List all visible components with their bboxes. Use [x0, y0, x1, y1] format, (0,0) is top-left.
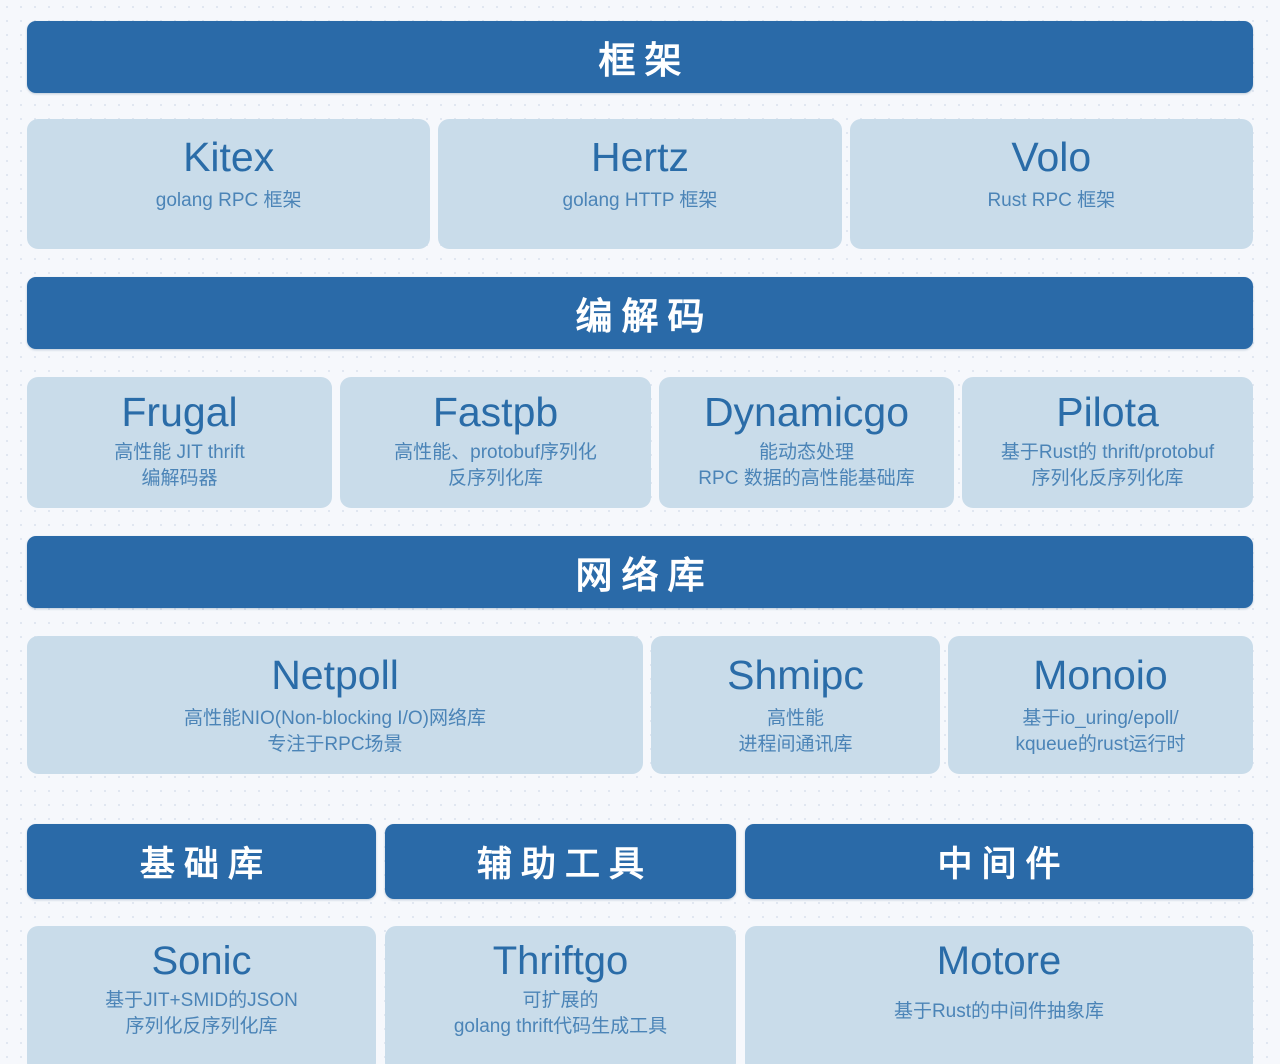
card-subtitle: golang HTTP 框架	[563, 188, 718, 214]
architecture-diagram: 框架 Kitex golang RPC 框架 Hertz golang HTTP…	[0, 21, 1280, 1064]
card-title: Netpoll	[271, 654, 399, 697]
card-row-framework: Kitex golang RPC 框架 Hertz golang HTTP 框架…	[27, 119, 1253, 249]
card-hertz[interactable]: Hertz golang HTTP 框架	[438, 119, 841, 249]
card-subtitle: 基于Rust的中间件抽象库	[894, 999, 1104, 1025]
card-title: Sonic	[151, 940, 251, 982]
card-title: Thriftgo	[493, 940, 629, 982]
card-title: Fastpb	[433, 391, 558, 434]
card-subtitle: 基于JIT+SMID的JSON 序列化反序列化库	[105, 988, 298, 1039]
card-row-codec: Frugal 高性能 JIT thrift 编解码器 Fastpb 高性能、pr…	[27, 377, 1253, 508]
card-title: Frugal	[121, 391, 237, 434]
section-header-helper-tools: 辅助工具	[385, 824, 736, 899]
card-shmipc[interactable]: Shmipc 高性能 进程间通讯库	[651, 636, 940, 774]
section-header-middleware: 中间件	[745, 824, 1253, 899]
card-title: Dynamicgo	[704, 391, 909, 434]
card-subtitle: 可扩展的 golang thrift代码生成工具	[454, 988, 667, 1039]
card-subtitle: golang RPC 框架	[156, 188, 302, 214]
section-header-network: 网络库	[27, 536, 1253, 608]
card-row-network: Netpoll 高性能NIO(Non-blocking I/O)网络库 专注于R…	[27, 636, 1253, 774]
card-fastpb[interactable]: Fastpb 高性能、protobuf序列化 反序列化库	[340, 377, 651, 508]
card-title: Kitex	[183, 136, 274, 179]
card-subtitle: 能动态处理 RPC 数据的高性能基础库	[698, 440, 914, 491]
card-title: Pilota	[1056, 391, 1159, 434]
card-frugal[interactable]: Frugal 高性能 JIT thrift 编解码器	[27, 377, 332, 508]
card-subtitle: 高性能、protobuf序列化 反序列化库	[394, 440, 597, 491]
card-subtitle: 高性能 JIT thrift 编解码器	[114, 440, 245, 491]
column-base-library: 基础库 Sonic 基于JIT+SMID的JSON 序列化反序列化库	[27, 824, 376, 1064]
column-helper-tools: 辅助工具 Thriftgo 可扩展的 golang thrift代码生成工具	[385, 824, 736, 1064]
card-subtitle: Rust RPC 框架	[987, 188, 1115, 214]
card-thriftgo[interactable]: Thriftgo 可扩展的 golang thrift代码生成工具	[385, 926, 736, 1064]
card-dynamicgo[interactable]: Dynamicgo 能动态处理 RPC 数据的高性能基础库	[659, 377, 954, 508]
card-subtitle: 基于io_uring/epoll/ kqueue的rust运行时	[1015, 706, 1185, 757]
card-title: Shmipc	[727, 654, 864, 697]
card-title: Hertz	[591, 136, 689, 179]
card-monoio[interactable]: Monoio 基于io_uring/epoll/ kqueue的rust运行时	[948, 636, 1253, 774]
card-subtitle: 基于Rust的 thrift/protobuf 序列化反序列化库	[1001, 440, 1214, 491]
card-netpoll[interactable]: Netpoll 高性能NIO(Non-blocking I/O)网络库 专注于R…	[27, 636, 643, 774]
card-title: Motore	[937, 940, 1062, 982]
bottom-column-group: 基础库 Sonic 基于JIT+SMID的JSON 序列化反序列化库 辅助工具 …	[27, 824, 1253, 1064]
card-title: Volo	[1011, 136, 1091, 179]
card-motore[interactable]: Motore 基于Rust的中间件抽象库	[745, 926, 1253, 1064]
section-header-framework: 框架	[27, 21, 1253, 93]
card-volo[interactable]: Volo Rust RPC 框架	[850, 119, 1253, 249]
section-header-base-library: 基础库	[27, 824, 376, 899]
section-header-codec: 编解码	[27, 277, 1253, 349]
card-title: Monoio	[1033, 654, 1167, 697]
card-kitex[interactable]: Kitex golang RPC 框架	[27, 119, 430, 249]
card-subtitle: 高性能NIO(Non-blocking I/O)网络库 专注于RPC场景	[184, 706, 486, 757]
card-pilota[interactable]: Pilota 基于Rust的 thrift/protobuf 序列化反序列化库	[962, 377, 1253, 508]
card-subtitle: 高性能 进程间通讯库	[738, 706, 852, 757]
column-middleware: 中间件 Motore 基于Rust的中间件抽象库	[745, 824, 1253, 1064]
card-sonic[interactable]: Sonic 基于JIT+SMID的JSON 序列化反序列化库	[27, 926, 376, 1064]
